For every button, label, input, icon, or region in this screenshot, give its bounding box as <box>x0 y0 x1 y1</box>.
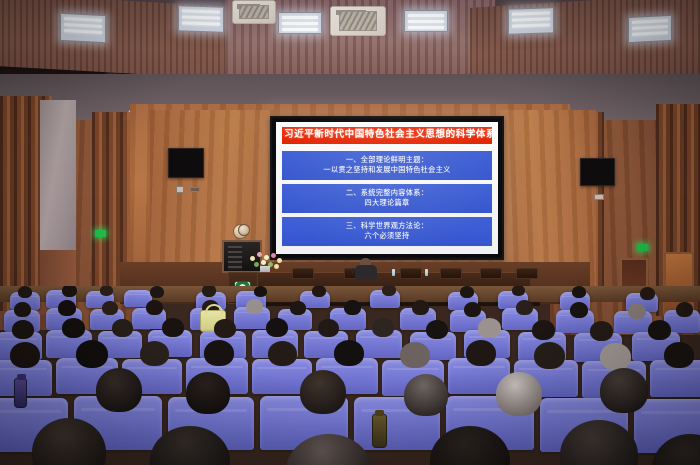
stage-chair <box>292 268 314 279</box>
ceiling-light-panel <box>178 5 224 33</box>
slide-point-2-line1: 二、系统完整内容体系： <box>285 188 489 199</box>
ceiling-light-panel <box>508 7 554 35</box>
exit-sign-left <box>95 230 106 237</box>
audience-seating <box>0 286 700 465</box>
slide-point-2-line2: 四大理论篇章 <box>285 198 489 209</box>
projection-screen: 习近平新时代中国特色社会主义思想的科学体系 一、全部理论鲜明主题： 一以贯之坚持… <box>270 116 504 260</box>
wall-switch-plate <box>176 186 184 193</box>
slide-point-3-line2: 六个必须坚持 <box>285 231 489 242</box>
ceiling-light-panel <box>60 13 106 43</box>
stage-chair <box>400 268 422 279</box>
wall-monitor-right <box>580 158 615 186</box>
exit-sign-right <box>637 244 648 251</box>
wall-monitor-left <box>168 148 204 178</box>
water-bottle <box>14 378 27 408</box>
stage-chair <box>440 268 462 279</box>
speaker-person <box>355 258 377 278</box>
stage-clock <box>238 224 250 236</box>
presentation-slide: 习近平新时代中国特色社会主义思想的科学体系 一、全部理论鲜明主题： 一以贯之坚持… <box>276 122 498 254</box>
slide-body: 一、全部理论鲜明主题： 一以贯之坚持和发展中国特色社会主义 二、系统完整内容体系… <box>282 149 492 248</box>
water-bottle-stage <box>425 269 428 276</box>
air-conditioner-unit <box>330 6 386 36</box>
slide-point-3: 三、科学世界观方法论： 六个必须坚持 <box>282 217 492 247</box>
slide-point-1-line1: 一、全部理论鲜明主题： <box>285 155 489 166</box>
stage-chair <box>516 268 538 279</box>
slide-title: 习近平新时代中国特色社会主义思想的科学体系 <box>282 127 492 144</box>
stage-chair <box>480 268 502 279</box>
ceiling-light-panel <box>278 12 322 34</box>
auditorium-scene: 习近平新时代中国特色社会主义思想的科学体系 一、全部理论鲜明主题： 一以贯之坚持… <box>0 0 700 465</box>
slide-point-1-line2: 一以贯之坚持和发展中国特色社会主义 <box>285 165 489 176</box>
ceiling-light-panel <box>404 10 448 32</box>
slide-point-3-line1: 三、科学世界观方法论： <box>285 221 489 232</box>
wall-speaker-plate <box>190 187 200 192</box>
air-conditioner-unit <box>232 0 276 24</box>
ceiling-light-panel <box>628 15 672 43</box>
water-bottle-stage <box>392 269 395 276</box>
slide-point-2: 二、系统完整内容体系： 四大理论篇章 <box>282 184 492 214</box>
slide-point-1: 一、全部理论鲜明主题： 一以贯之坚持和发展中国特色社会主义 <box>282 151 492 181</box>
flower-arrangement <box>248 252 282 274</box>
water-bottle <box>372 414 387 448</box>
wall-switch-plate <box>594 194 604 200</box>
